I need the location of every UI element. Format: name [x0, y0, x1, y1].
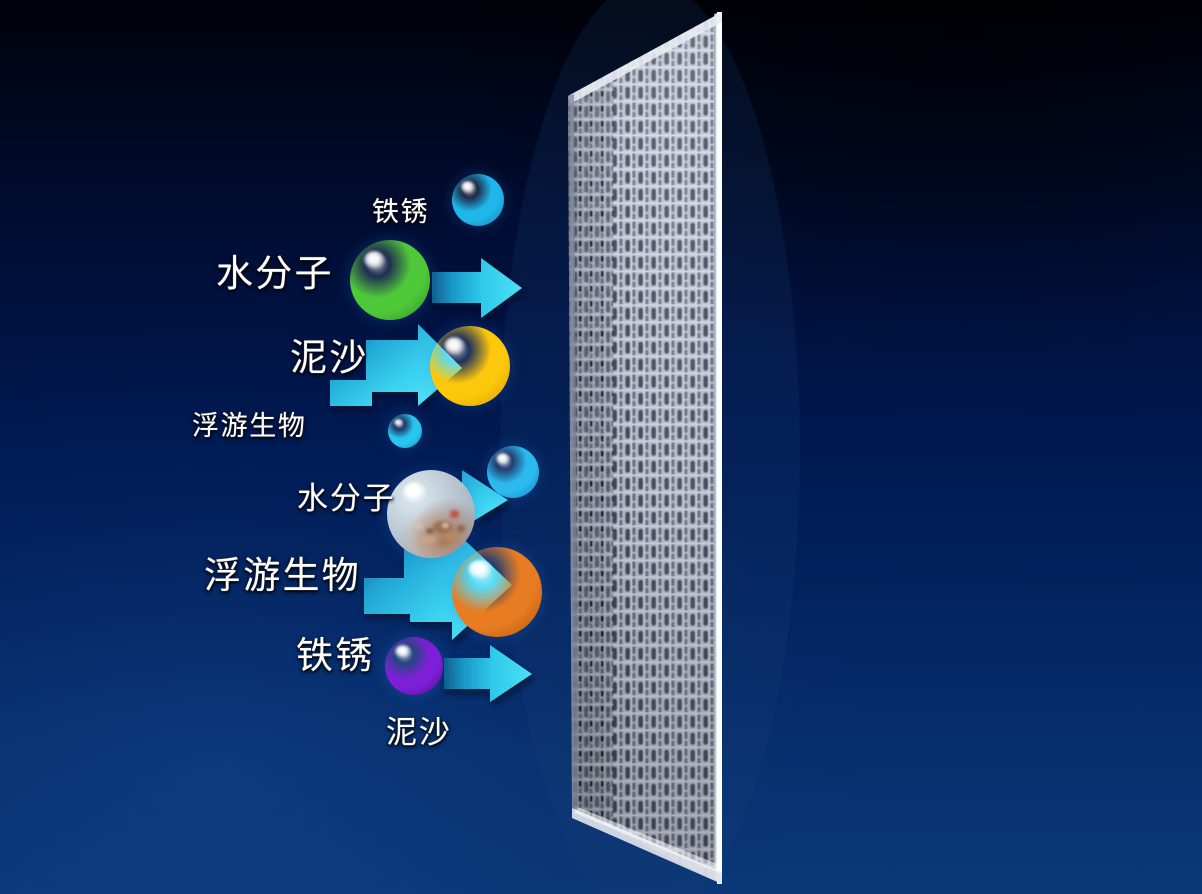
earth-texture-speck [438, 540, 449, 547]
sphere-cyan-mid [487, 446, 539, 498]
earth-texture-speck [450, 510, 459, 517]
arrow-group [0, 0, 1202, 894]
sphere-earth [387, 470, 475, 558]
label-nisha-bottom: 泥沙 [386, 707, 452, 752]
sphere-green [350, 240, 430, 320]
label-fuyoushengwu-top: 浮游生物 [192, 404, 306, 443]
label-tiexiu-bottom: 铁锈 [296, 625, 374, 679]
earth-texture-speck [442, 523, 449, 528]
label-shuifenzi-mid: 水分子 [297, 473, 396, 518]
label-shuifenzi-top: 水分子 [216, 243, 334, 297]
label-nisha-top: 泥沙 [290, 327, 368, 381]
label-tiexiu-top: 铁锈 [372, 190, 429, 229]
earth-texture-speck [457, 525, 465, 533]
earth-texture-speck [445, 532, 459, 542]
arrow-nisha-bottom [444, 645, 532, 702]
diagram-canvas: 铁锈水分子泥沙浮游生物水分子浮游生物铁锈泥沙 [0, 0, 1202, 894]
arrow-top-right [432, 258, 522, 318]
earth-texture-speck [426, 528, 434, 534]
label-fuyoushengwu-mid: 浮游生物 [204, 545, 361, 599]
sphere-cyan-top [452, 174, 504, 226]
sphere-cyan-small [388, 414, 422, 448]
sphere-orange [452, 547, 542, 637]
sphere-purple [385, 637, 443, 695]
earth-texture-speck [420, 535, 436, 544]
sphere-yellow [430, 326, 510, 406]
earth-texture-speck [413, 523, 423, 529]
